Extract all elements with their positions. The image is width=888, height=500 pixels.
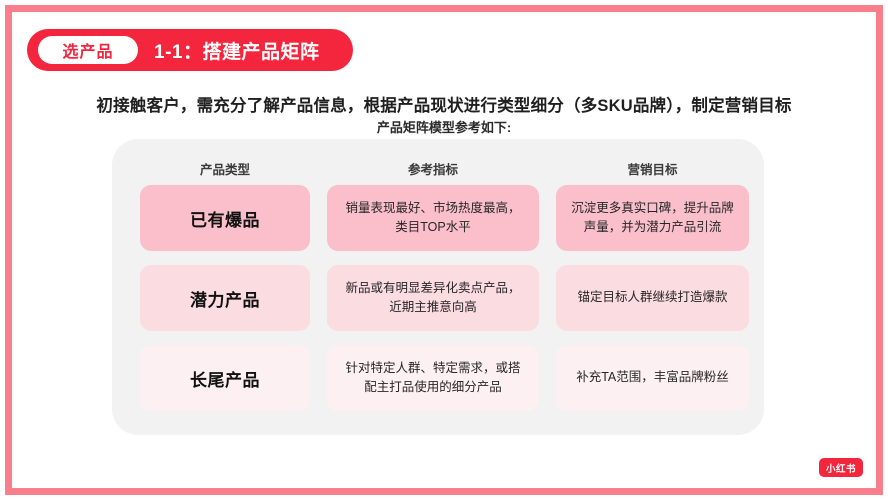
slide-canvas: 选产品 1-1：搭建产品矩阵 初接触客户，需充分了解产品信息，根据产品现状进行类… [0,0,888,500]
product-matrix-panel: 产品类型 参考指标 营销目标 已有爆品 销量表现最好、市场热度最高，类目TOP水… [112,139,764,435]
column-header-goal: 营销目标 [556,159,749,178]
cell-product-type: 长尾产品 [140,345,310,411]
column-header-metric: 参考指标 [327,159,539,178]
xiaohongshu-logo: 小红书 [819,458,863,477]
section-title: 1-1：搭建产品矩阵 [154,37,319,64]
cell-product-type: 已有爆品 [140,185,310,251]
sub-heading: 产品矩阵模型参考如下: [0,117,888,136]
product-matrix-table: 产品类型 参考指标 营销目标 已有爆品 销量表现最好、市场热度最高，类目TOP水… [112,139,764,435]
section-header-pill: 选产品 1-1：搭建产品矩阵 [27,29,353,71]
cell-marketing-goal: 锚定目标人群继续打造爆款 [556,265,749,331]
table-row: 已有爆品 销量表现最好、市场热度最高，类目TOP水平 沉淀更多真实口碑，提升品牌… [140,185,736,251]
table-row: 潜力产品 新品或有明显差异化卖点产品，近期主推意向高 锚定目标人群继续打造爆款 [140,265,736,331]
cell-product-type: 潜力产品 [140,265,310,331]
cell-reference-metric: 针对特定人群、特定需求，或搭配主打品使用的细分产品 [327,345,539,411]
matrix-header-row: 产品类型 参考指标 营销目标 [140,151,736,185]
cell-marketing-goal: 沉淀更多真实口碑，提升品牌声量，并为潜力产品引流 [556,185,749,251]
section-tag-badge: 选产品 [38,36,138,64]
cell-reference-metric: 新品或有明显差异化卖点产品，近期主推意向高 [327,265,539,331]
cell-reference-metric: 销量表现最好、市场热度最高，类目TOP水平 [327,185,539,251]
table-row: 长尾产品 针对特定人群、特定需求，或搭配主打品使用的细分产品 补充TA范围，丰富… [140,345,736,411]
column-header-type: 产品类型 [140,159,310,178]
main-heading: 初接触客户，需充分了解产品信息，根据产品现状进行类型细分（多SKU品牌），制定营… [0,92,888,116]
cell-marketing-goal: 补充TA范围，丰富品牌粉丝 [556,345,749,411]
